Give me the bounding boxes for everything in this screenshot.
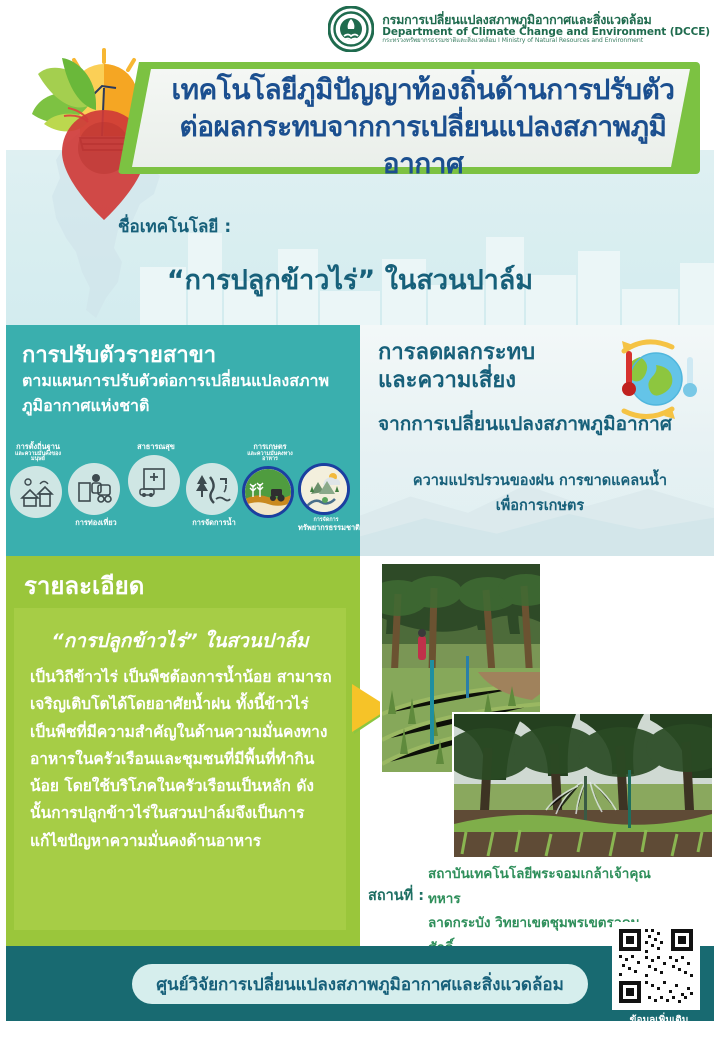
title-banner: เทคโนโลยีภูมิปัญญาท้องถิ่นด้านการปรับตัว… <box>118 62 700 174</box>
org-th-name: กรมการเปลี่ยนแปลงสภาพภูมิอากาศและสิ่งแวด… <box>382 13 710 27</box>
mitigation-heading-line-1: การลดผลกระทบ <box>378 339 535 367</box>
adaptation-panel: การปรับตัวรายสาขา ตามแผนการปรับตัวต่อการ… <box>0 325 360 556</box>
bottom-margin <box>0 1021 720 1040</box>
details-panel: รายละเอียด “การปลูกข้าวไร่” ในสวนปาล์ม เ… <box>0 556 360 946</box>
right-margin <box>714 0 720 1021</box>
technology-name: “การปลูกข้าวไร่” ในสวนปาล์ม <box>90 258 610 301</box>
palm-plantation-sprinkler-photo <box>452 712 714 859</box>
sector-label-water: การจัดการน้ำ <box>186 519 242 528</box>
water-management-icon <box>186 463 238 515</box>
title-line-2: ต่อผลกระทบจากการเปลี่ยนแปลงสภาพภูมิอากาศ <box>162 109 684 183</box>
location-label: สถานที่ : <box>368 884 424 907</box>
research-center-pill[interactable]: ศูนย์วิจัยการเปลี่ยนแปลงสภาพภูมิอากาศและ… <box>132 964 588 1004</box>
farmer-figure <box>418 629 426 660</box>
org-ministry: กระทรวงทรัพยากรธรรมชาติและสิ่งแวดล้อม I … <box>382 38 710 45</box>
page-title: เทคโนโลยีภูมิปัญญาท้องถิ่นด้านการปรับตัว… <box>162 72 684 183</box>
details-head: “การปลูกข้าวไร่” ในสวนปาล์ม <box>14 608 346 660</box>
sector-label-health: สาธารณสุข <box>128 443 184 452</box>
title-line-1: เทคโนโลยีภูมิปัญญาท้องถิ่นด้านการปรับตัว <box>162 72 684 109</box>
adaptation-heading: การปรับตัวรายสาขา <box>22 337 216 372</box>
location-line-1: สถาบันเทคโนโลยีพระจอมเกล้าเจ้าคุณทหาร <box>428 862 658 911</box>
sector-item-tourism[interactable]: การท่องเที่ยว <box>68 463 124 528</box>
sector-item-water[interactable]: การจัดการน้ำ <box>186 463 242 528</box>
left-margin <box>0 0 6 1021</box>
sector-icon-group: การตั้งถิ่นฐาน และความมั่นคงของมนุษย์ <box>6 443 358 551</box>
adaptation-subheading: ตามแผนการปรับตัวต่อการเปลี่ยนแปลงสภาพภูม… <box>22 369 346 419</box>
settlement-icon <box>10 466 62 518</box>
agriculture-icon <box>242 466 294 518</box>
sector-sublabel-agriculture: และความมั่นคงทางอาหาร <box>242 452 298 464</box>
details-body: เป็นวิถีข้าวไร่ เป็นพืชต้องการน้ำน้อย สา… <box>14 660 346 855</box>
sector-label-tourism: การท่องเที่ยว <box>68 519 124 528</box>
natural-resources-icon <box>298 463 350 515</box>
sector-item-settlement[interactable]: การตั้งถิ่นฐาน และความมั่นคงของมนุษย์ <box>10 443 66 518</box>
mitigation-note-line-2: เพื่อการเกษตร <box>374 494 706 519</box>
health-icon <box>128 455 180 507</box>
sector-sublabel-settlement: และความมั่นคงของมนุษย์ <box>10 452 66 464</box>
mitigation-note-line-1: ความแปรปรวนของฝน การขาดแคลนน้ำ <box>374 469 706 494</box>
qr-block[interactable]: ข้อมูลเพิ่มเติม <box>612 922 706 1034</box>
sector-label-natural-resources: ทรัพยากรธรรมชาติ <box>298 524 354 533</box>
technology-label: ชื่อเทคโนโลยี : <box>118 213 231 240</box>
research-center-name: ศูนย์วิจัยการเปลี่ยนแปลงสภาพภูมิอากาศและ… <box>156 971 564 998</box>
mitigation-heading: การลดผลกระทบ และความเสี่ยง <box>378 339 535 395</box>
tourism-icon <box>68 463 120 515</box>
sector-item-agriculture[interactable]: การเกษตร และความมั่นคงทางอาหาร <box>242 443 298 518</box>
sector-item-natural-resources[interactable]: การจัดการ ทรัพยากรธรรมชาติ <box>298 463 354 532</box>
dcce-emblem-icon <box>328 6 374 52</box>
mitigation-panel: การลดผลกระทบ และความเสี่ยง จากการเปลี่ยน… <box>360 325 720 556</box>
details-box: “การปลูกข้าวไร่” ในสวนปาล์ม เป็นวิถีข้าว… <box>14 608 346 930</box>
mitigation-heading-line-2: และความเสี่ยง <box>378 367 535 395</box>
poster-root: กรมการเปลี่ยนแปลงสภาพภูมิอากาศและสิ่งแวด… <box>0 0 720 1040</box>
details-title: รายละเอียด <box>24 566 144 605</box>
mitigation-subheading: จากการเปลี่ยนแปลงสภาพภูมิอากาศ <box>378 409 672 439</box>
dcce-logo: กรมการเปลี่ยนแปลงสภาพภูมิอากาศและสิ่งแวด… <box>328 6 710 52</box>
sector-item-health[interactable]: สาธารณสุข <box>128 443 184 507</box>
qr-code-icon[interactable] <box>612 922 700 1010</box>
cold-thermometer <box>683 357 697 397</box>
mitigation-note: ความแปรปรวนของฝน การขาดแคลนน้ำ เพื่อการเ… <box>374 469 706 519</box>
